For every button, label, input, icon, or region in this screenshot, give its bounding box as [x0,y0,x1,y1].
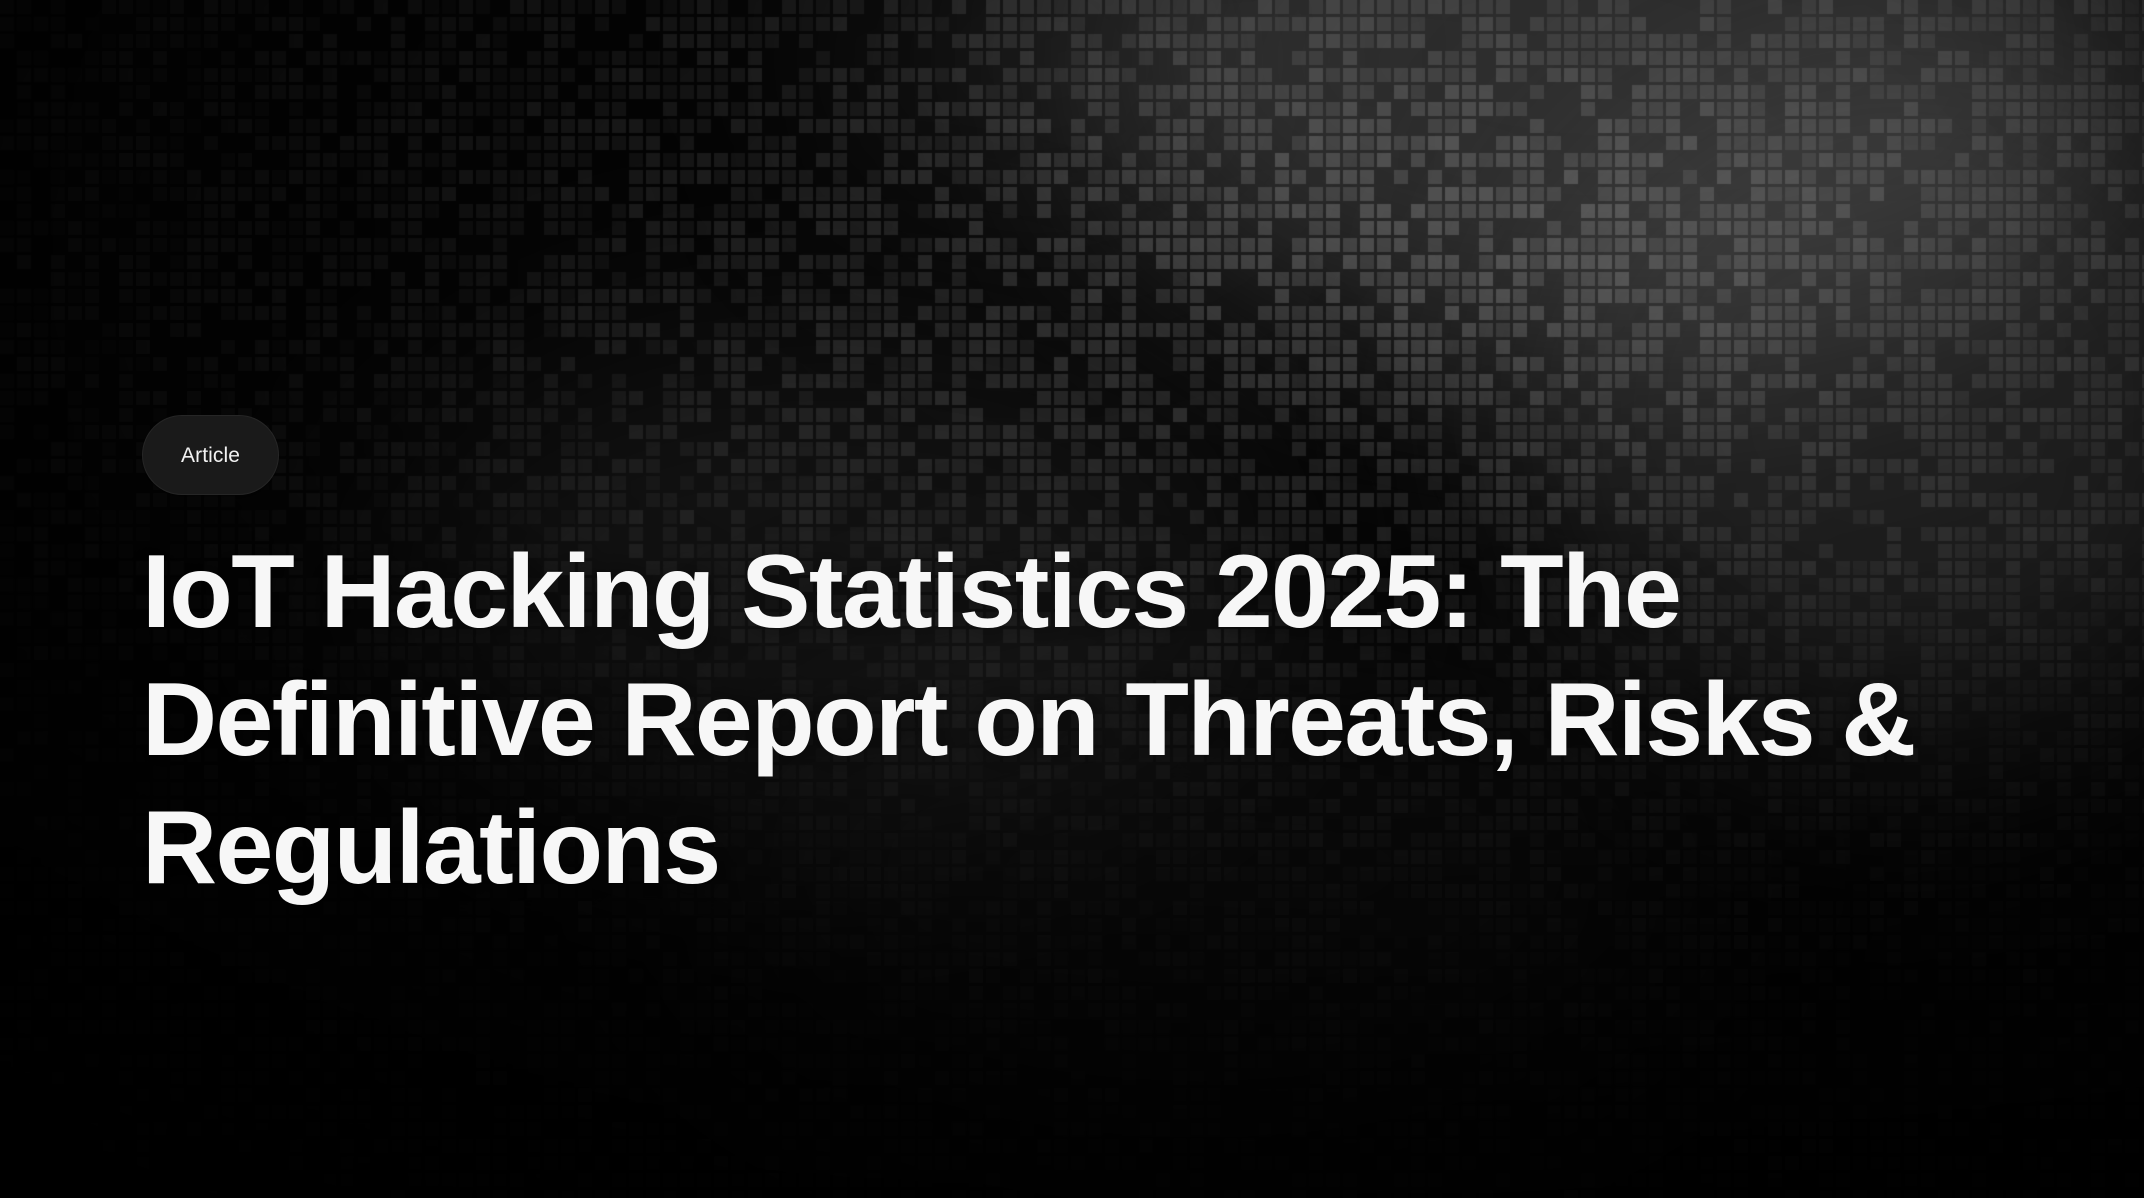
hero-content: Article IoT Hacking Statistics 2025: The… [142,415,2042,912]
hero-banner: Article IoT Hacking Statistics 2025: The… [0,0,2144,1198]
category-badge-label: Article [181,445,240,466]
category-badge[interactable]: Article [142,415,279,495]
page-title: IoT Hacking Statistics 2025: The Definit… [142,528,1942,912]
